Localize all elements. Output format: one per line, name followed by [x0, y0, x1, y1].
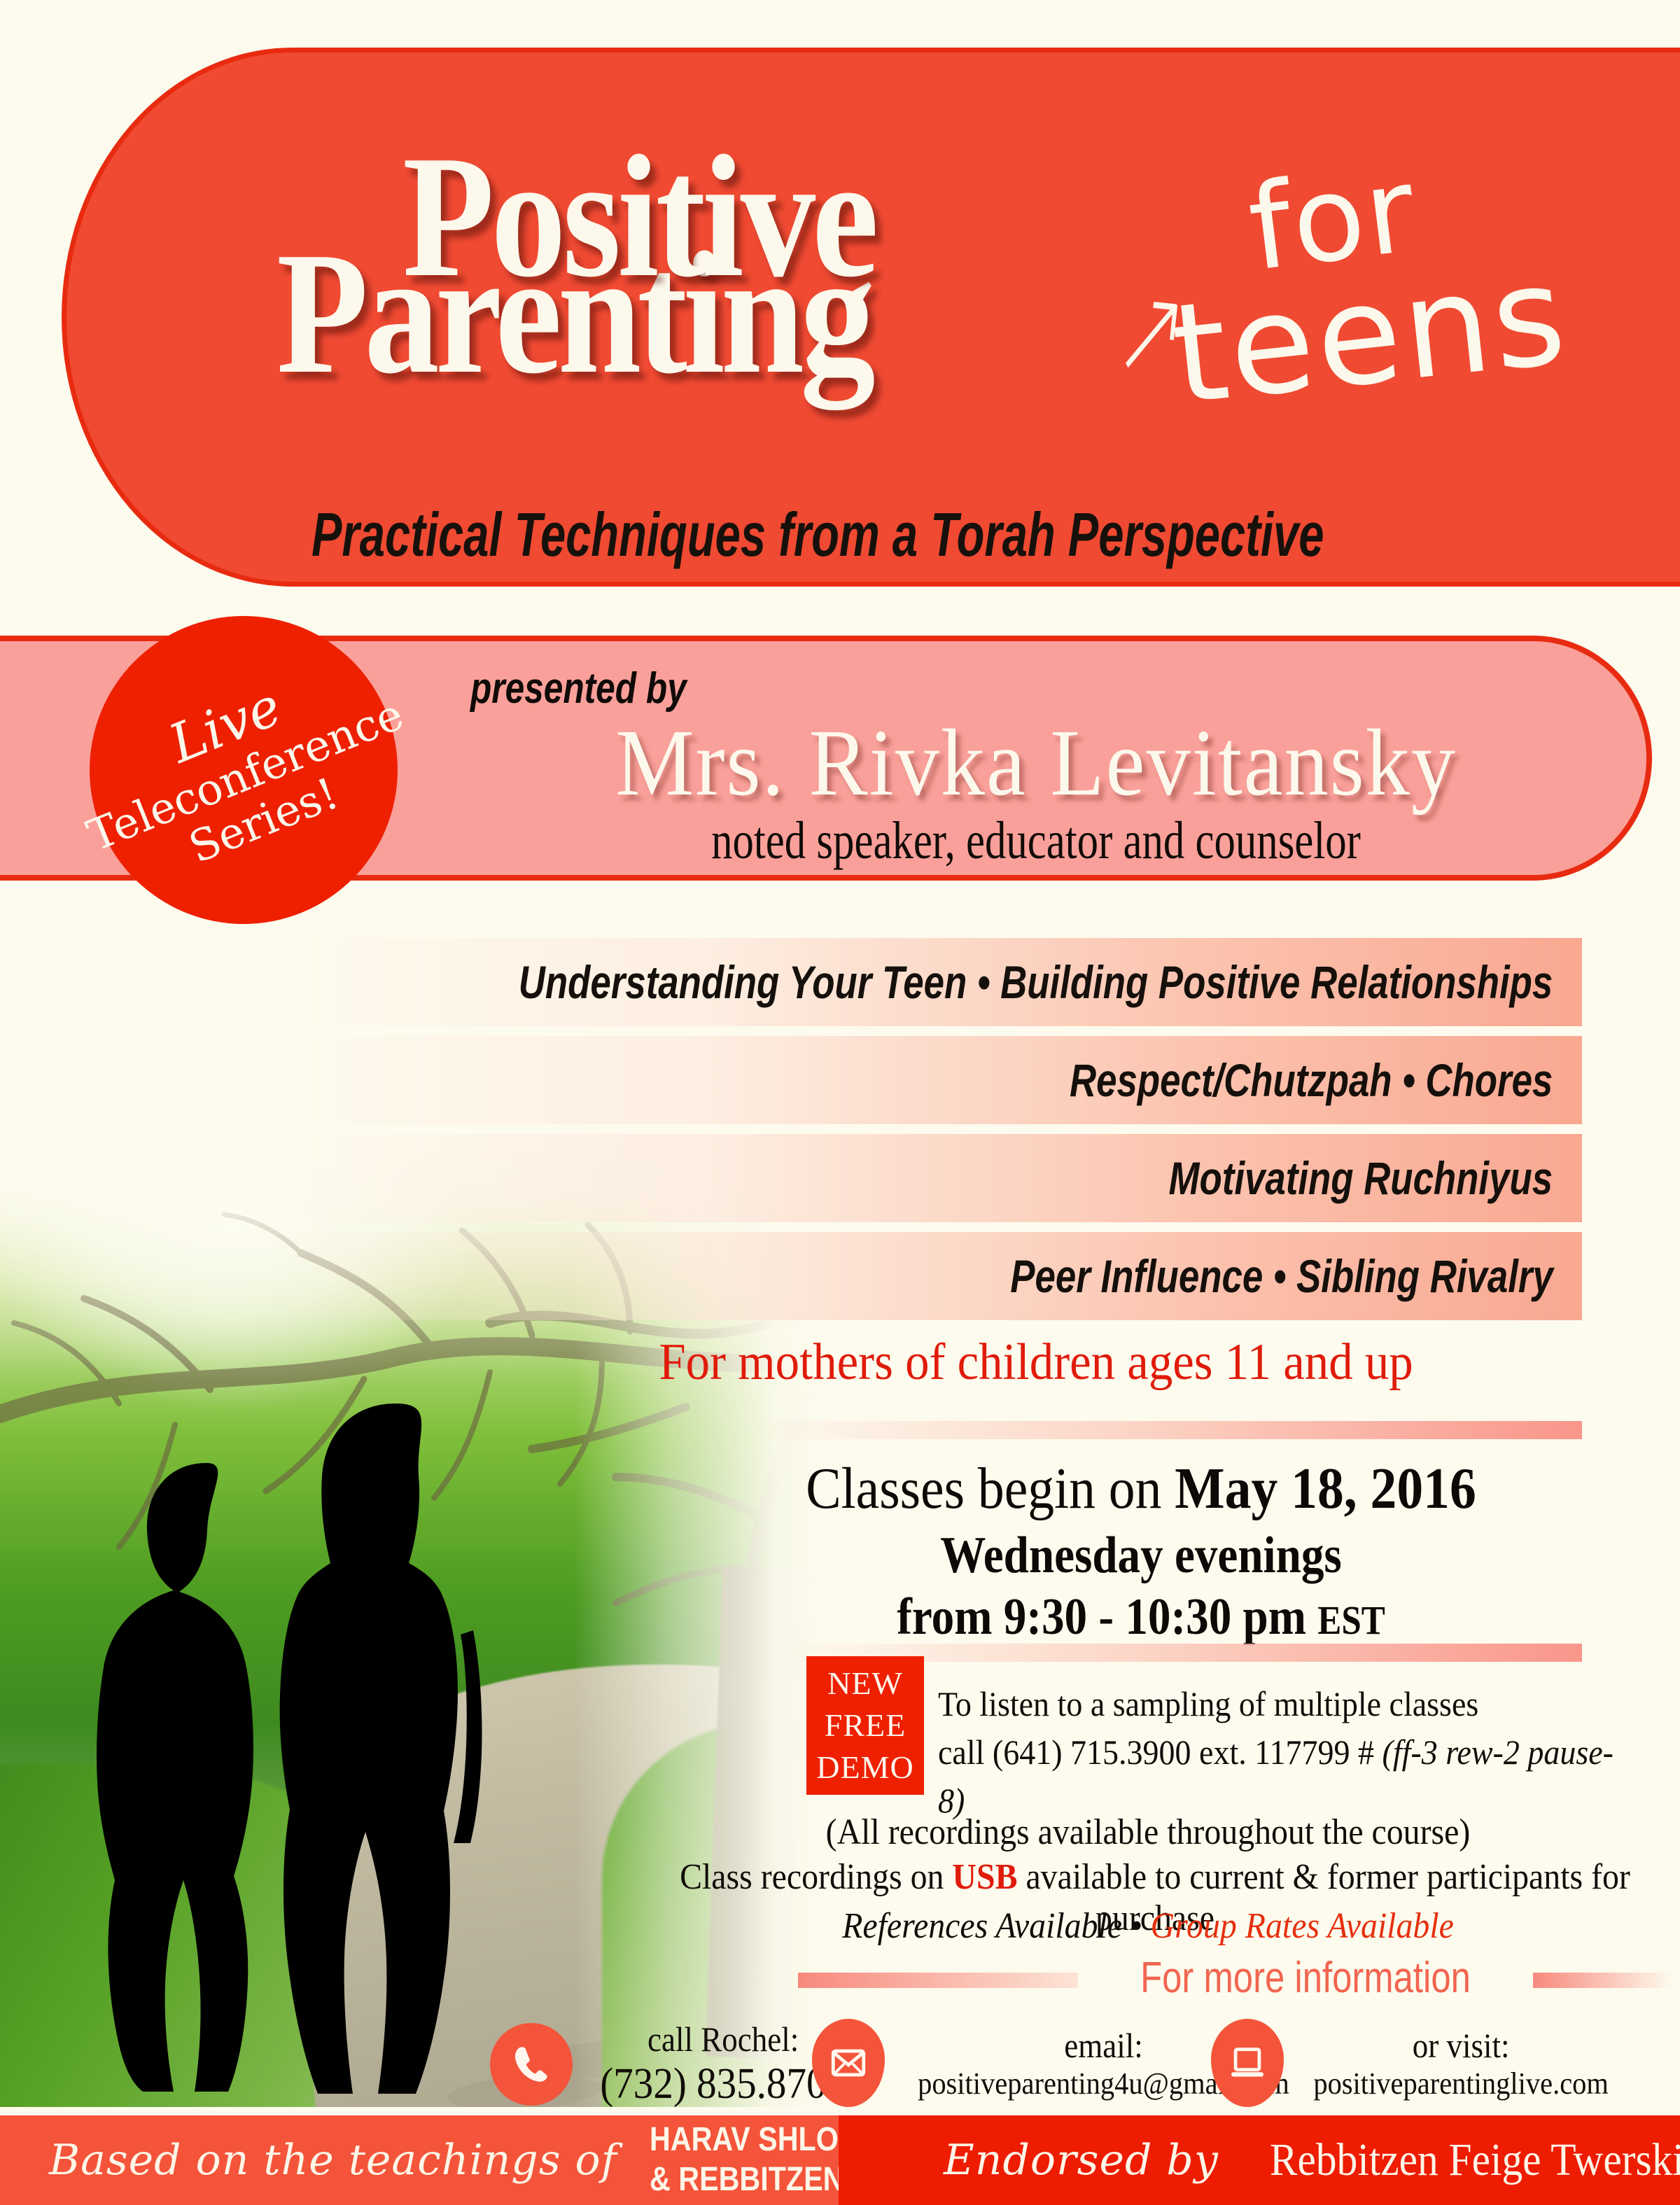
header-subtitle: Practical Techniques from a Torah Perspe…: [311, 499, 1324, 570]
contact-label: call Rochel:: [603, 2019, 843, 2059]
group-rates-available: Group Rates Available: [1151, 1906, 1454, 1946]
topic-bar: Motivating Ruchniyus: [266, 1134, 1582, 1222]
new-free-demo-badge: NEW FREE DEMO: [806, 1656, 924, 1795]
topic-bar: Respect/Chutzpah • Chores: [266, 1036, 1582, 1124]
contact-row: call Rochel: (732) 835.8703 email: posit…: [434, 2002, 1680, 2114]
heading-rule-left: [798, 1973, 1078, 1988]
schedule-prefix: Classes begin on: [806, 1456, 1175, 1521]
poster-canvas: Parenting Positive ↗ for teens Practical…: [0, 0, 1680, 2205]
schedule-start-line: Classes begin on May 18, 2016: [744, 1455, 1538, 1522]
audience-line: For mothers of children ages 11 and up: [528, 1333, 1544, 1392]
contact-phone[interactable]: call Rochel: (732) 835.8703: [490, 2019, 857, 2109]
schedule-timezone: EST: [1317, 1597, 1385, 1643]
contact-value: (732) 835.8703: [600, 2059, 846, 2109]
contact-website-text: or visit: positiveparentinglive.com: [1301, 2025, 1621, 2101]
footer-right: Endorsed by Rebbitzen Feige Twerski: [839, 2115, 1680, 2205]
footer-right-script: Endorsed by: [944, 2136, 1219, 2185]
presented-by-label: presented by: [470, 664, 687, 713]
demo-line-1: To listen to a sampling of multiple clas…: [938, 1680, 1620, 1728]
topic-label: Understanding Your Teen • Building Posit…: [519, 955, 1582, 1009]
schedule-time: from 9:30 - 10:30 pm EST: [753, 1588, 1529, 1647]
footer-left-script: Based on the teachings of: [49, 2136, 617, 2185]
silhouette-mother: [266, 1403, 525, 2096]
demo-instructions: To listen to a sampling of multiple clas…: [938, 1680, 1620, 1825]
references-line: References Available • Group Rates Avail…: [671, 1905, 1625, 1947]
header-band: Parenting Positive ↗ for teens Practical…: [62, 48, 1680, 587]
demo-phone: call (641) 715.3900 ext. 117799 #: [938, 1732, 1382, 1772]
recordings-usb-prefix: Class recordings on: [680, 1857, 952, 1897]
contact-website[interactable]: or visit: positiveparentinglive.com: [1211, 2019, 1621, 2107]
divider-rule: [756, 1421, 1582, 1439]
speaker-role: noted speaker, educator and counselor: [599, 811, 1473, 871]
demo-badge-line-3: DEMO: [816, 1746, 913, 1788]
script-teens: teens: [1165, 235, 1575, 435]
demo-badge-line-1: NEW: [827, 1662, 903, 1704]
title-block: Parenting Positive ↗ for teens: [66, 52, 1680, 486]
footer-left: Based on the teachings of HARAV SHLOMO W…: [0, 2115, 839, 2205]
title-line-positive: Positive: [402, 129, 875, 304]
schedule-day: Wednesday evenings: [753, 1526, 1529, 1585]
topic-label: Motivating Ruchniyus: [1169, 1151, 1582, 1205]
schedule-date: May 18, 2016: [1175, 1456, 1476, 1521]
footer-right-name: Rebbitzen Feige Twerski: [1270, 2134, 1680, 2187]
laptop-icon: [1211, 2019, 1284, 2107]
references-available: References Available •: [842, 1906, 1151, 1946]
recordings-note: (All recordings available throughout the…: [671, 1812, 1625, 1853]
topic-bar: Peer Influence • Sibling Rivalry: [266, 1232, 1582, 1320]
contact-label: or visit:: [1317, 2025, 1605, 2066]
more-information-heading: For more information: [798, 1953, 1673, 2009]
demo-badge-line-2: FREE: [825, 1704, 906, 1746]
schedule-time-range: from 9:30 - 10:30 pm: [897, 1588, 1317, 1646]
more-info-text: For more information: [1119, 1953, 1492, 2003]
topic-label: Peer Influence • Sibling Rivalry: [1010, 1249, 1582, 1303]
topic-label: Respect/Chutzpah • Chores: [1070, 1053, 1582, 1107]
contact-value: positiveparentinglive.com: [1313, 2066, 1609, 2101]
usb-highlight: USB: [952, 1857, 1017, 1897]
speaker-name: Mrs. Rivka Levitansky: [528, 708, 1544, 818]
phone-icon: [490, 2023, 573, 2106]
topic-bar: Understanding Your Teen • Building Posit…: [266, 938, 1582, 1026]
heading-rule-right: [1533, 1973, 1673, 1988]
live-teleconference-badge: Live Teleconference Series!: [90, 616, 398, 924]
demo-line-2: call (641) 715.3900 ext. 117799 # (ff-3 …: [938, 1728, 1620, 1825]
footer: Based on the teachings of HARAV SHLOMO W…: [0, 2115, 1680, 2205]
envelope-icon: [812, 2019, 885, 2107]
